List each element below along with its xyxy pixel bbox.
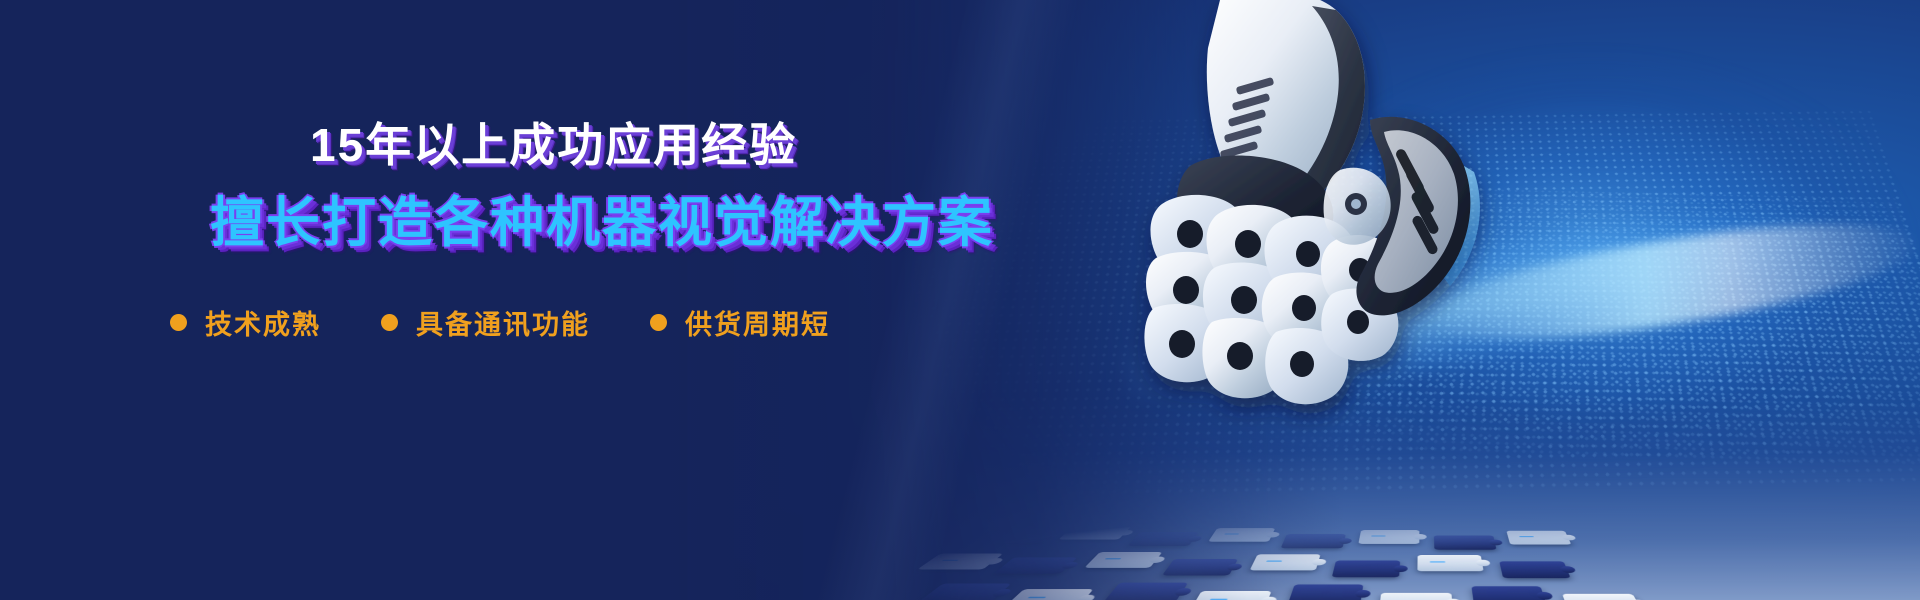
bullet-dot-icon — [650, 314, 667, 331]
copy-block: 15年以上成功应用经验 擅长打造各种机器视觉解决方案 技术成熟 具备通讯功能 供… — [0, 0, 960, 600]
feature-bullet-1: 技术成熟 — [170, 303, 321, 342]
feature-bullet-2: 具备通讯功能 — [381, 303, 590, 342]
bullet-dot-icon — [381, 314, 398, 331]
feature-bullet-3: 供货周期短 — [650, 303, 830, 342]
hero-banner: 15年以上成功应用经验 擅长打造各种机器视觉解决方案 技术成熟 具备通讯功能 供… — [0, 0, 1920, 600]
headline-secondary: 擅长打造各种机器视觉解决方案 — [210, 196, 994, 250]
headline-primary: 15年以上成功应用经验 — [310, 122, 797, 168]
bullet-dot-icon — [170, 314, 187, 331]
bullet-label-1: 技术成熟 — [205, 303, 321, 342]
robotic-hand-image — [1040, 0, 1580, 450]
feature-bullets: 技术成熟 具备通讯功能 供货周期短 — [170, 303, 830, 342]
bullet-label-2: 具备通讯功能 — [416, 303, 590, 342]
bullet-label-3: 供货周期短 — [685, 303, 830, 342]
puzzle-tiles-image — [845, 524, 1920, 600]
